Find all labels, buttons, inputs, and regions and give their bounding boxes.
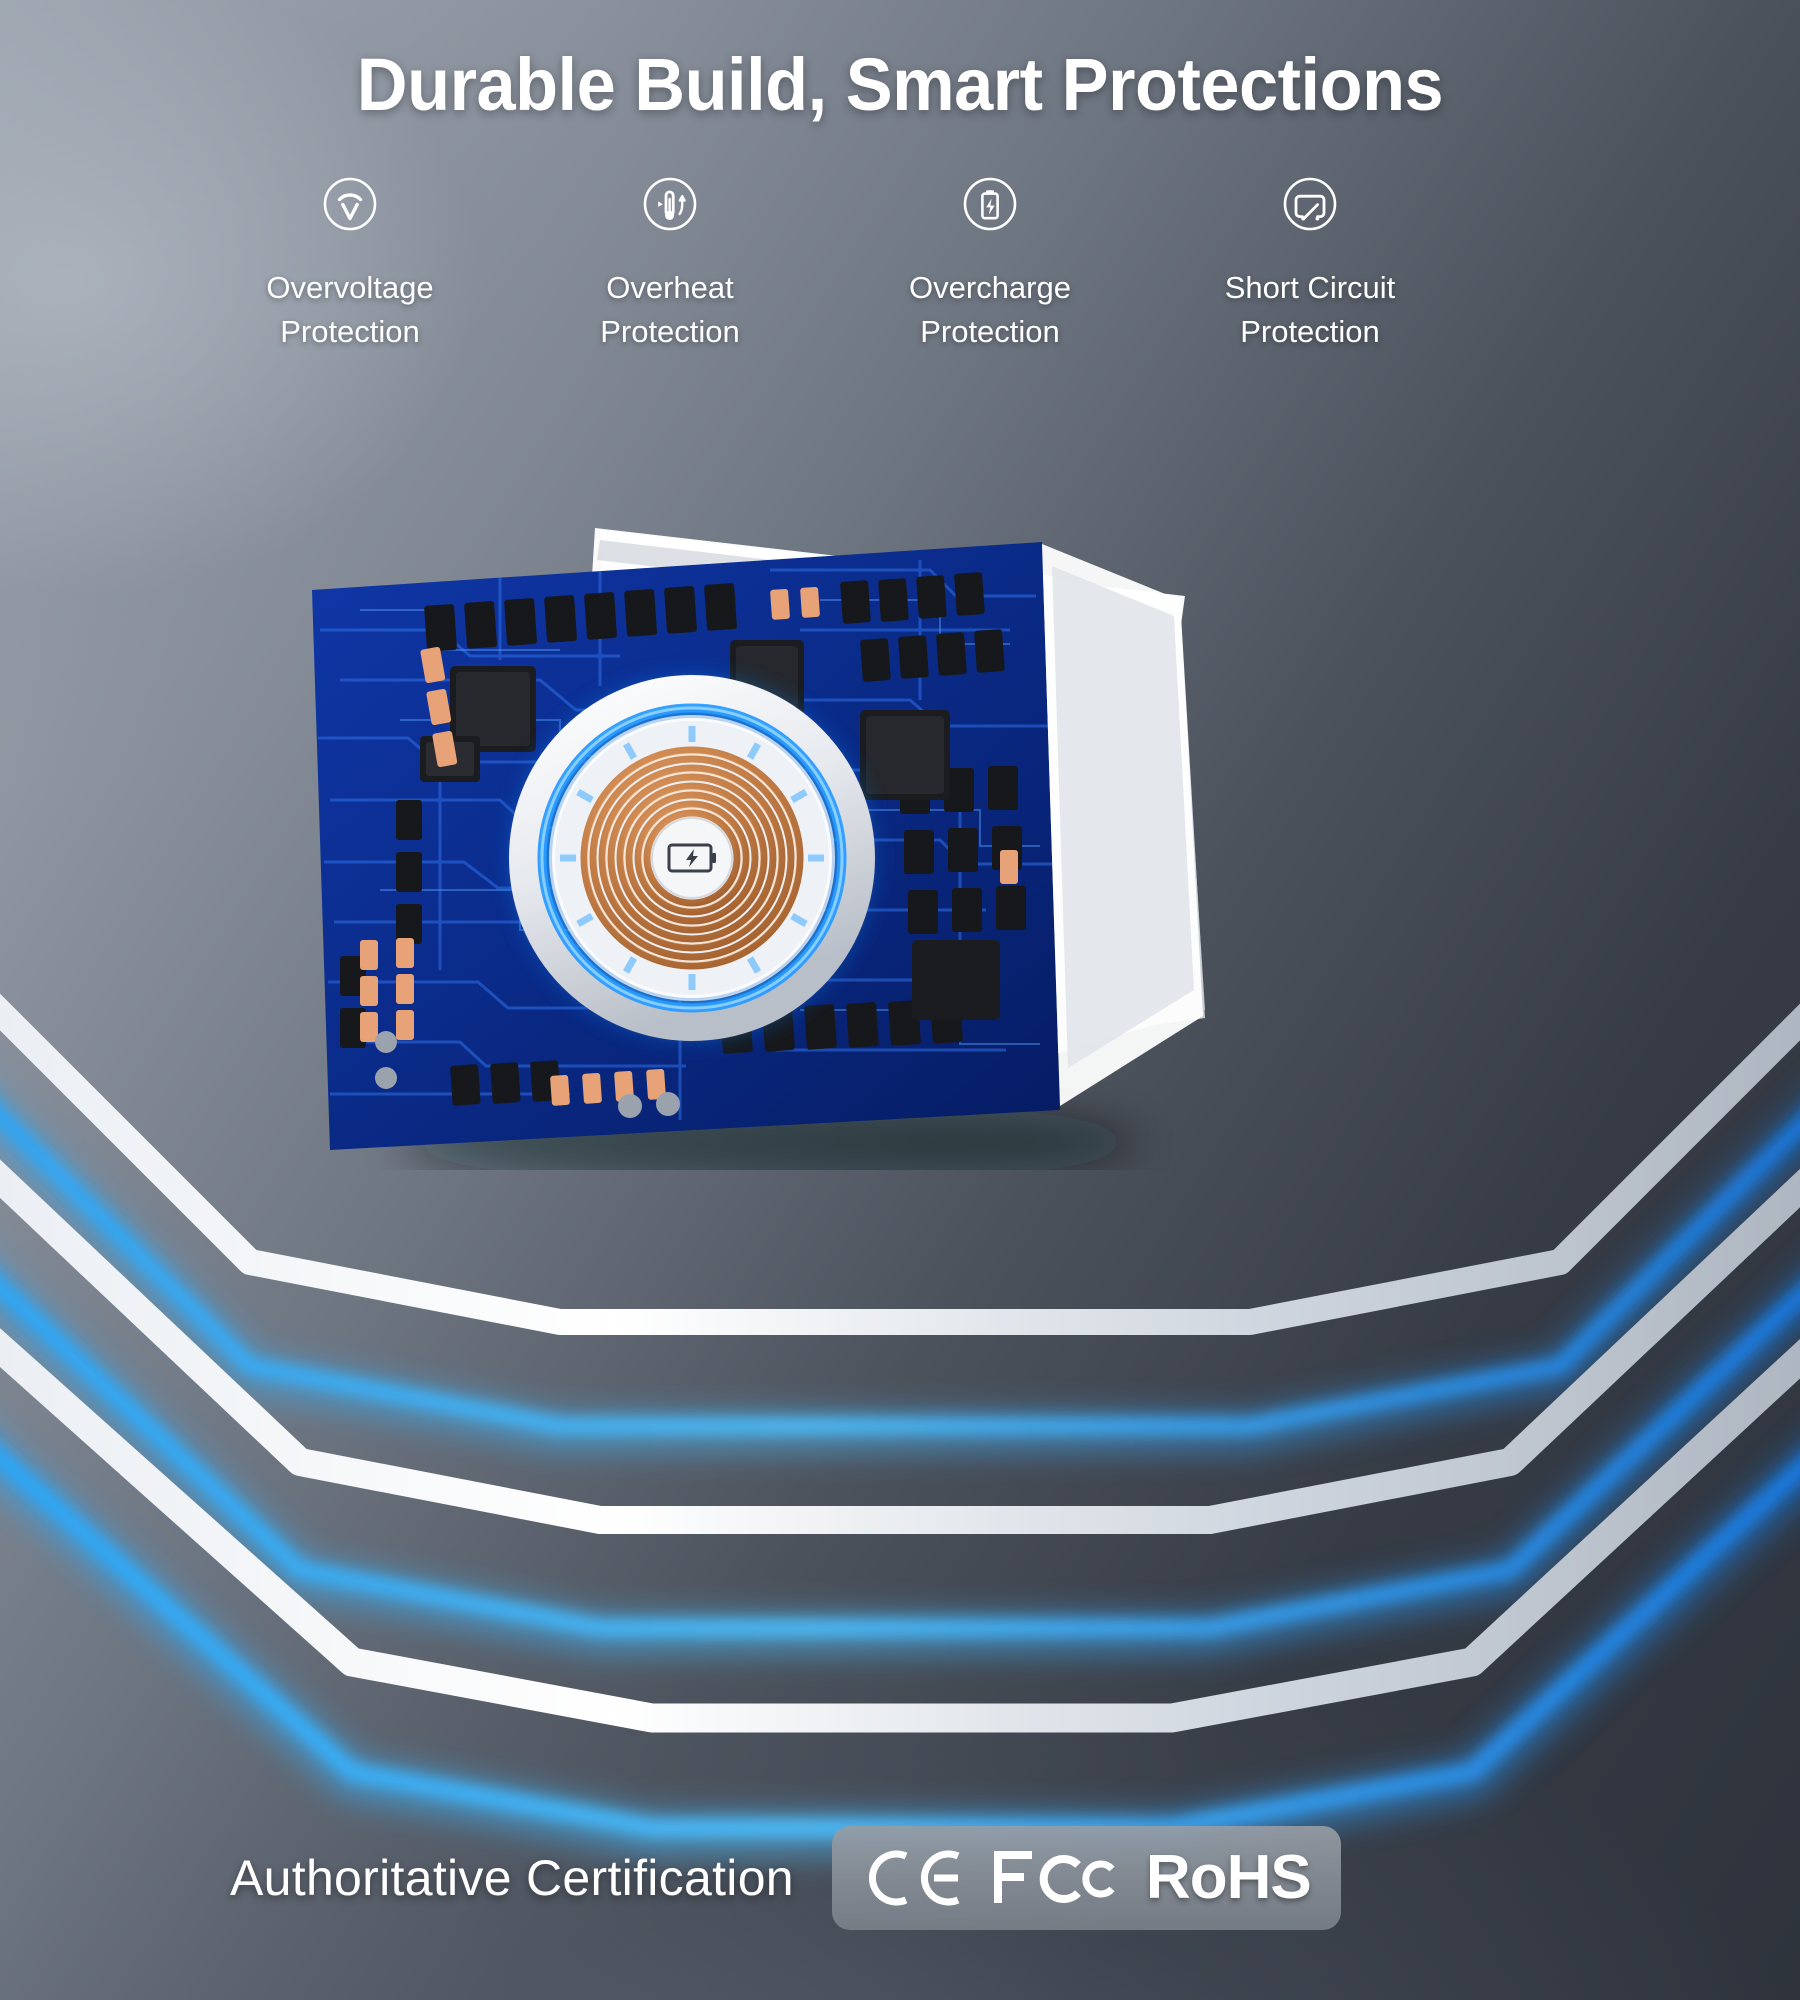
feature-overcharge: Overcharge Protection xyxy=(860,168,1120,354)
feature-overheat: Overheat Protection xyxy=(540,168,800,354)
feature-label: Overheat Protection xyxy=(600,266,740,354)
feature-short-circuit: Short Circuit Protection xyxy=(1180,168,1440,354)
promo-image-canvas: Durable Build, Smart Protections Overvol… xyxy=(0,0,1800,2000)
short-circuit-icon xyxy=(1274,168,1346,240)
feature-label: Overcharge Protection xyxy=(909,266,1071,354)
feature-overvoltage: Overvoltage Protection xyxy=(220,168,480,354)
product-image xyxy=(300,470,1360,1170)
ce-mark-icon xyxy=(862,1846,966,1910)
feature-label: Overvoltage Protection xyxy=(266,266,433,354)
certification-label: Authoritative Certification xyxy=(230,1849,794,1907)
certification-bar: Authoritative Certification RoHS xyxy=(230,1822,1630,1934)
overheat-thermometer-icon xyxy=(634,168,706,240)
page-title: Durable Build, Smart Protections xyxy=(45,42,1755,127)
overcharge-battery-icon xyxy=(954,168,1026,240)
feature-label: Short Circuit Protection xyxy=(1225,266,1396,354)
fcc-mark-icon xyxy=(992,1847,1118,1909)
certification-badge: RoHS xyxy=(832,1826,1341,1930)
rohs-mark-label: RoHS xyxy=(1146,1847,1311,1909)
protection-feature-list: Overvoltage Protection Overheat Protecti… xyxy=(220,168,1440,354)
overvoltage-icon xyxy=(314,168,386,240)
